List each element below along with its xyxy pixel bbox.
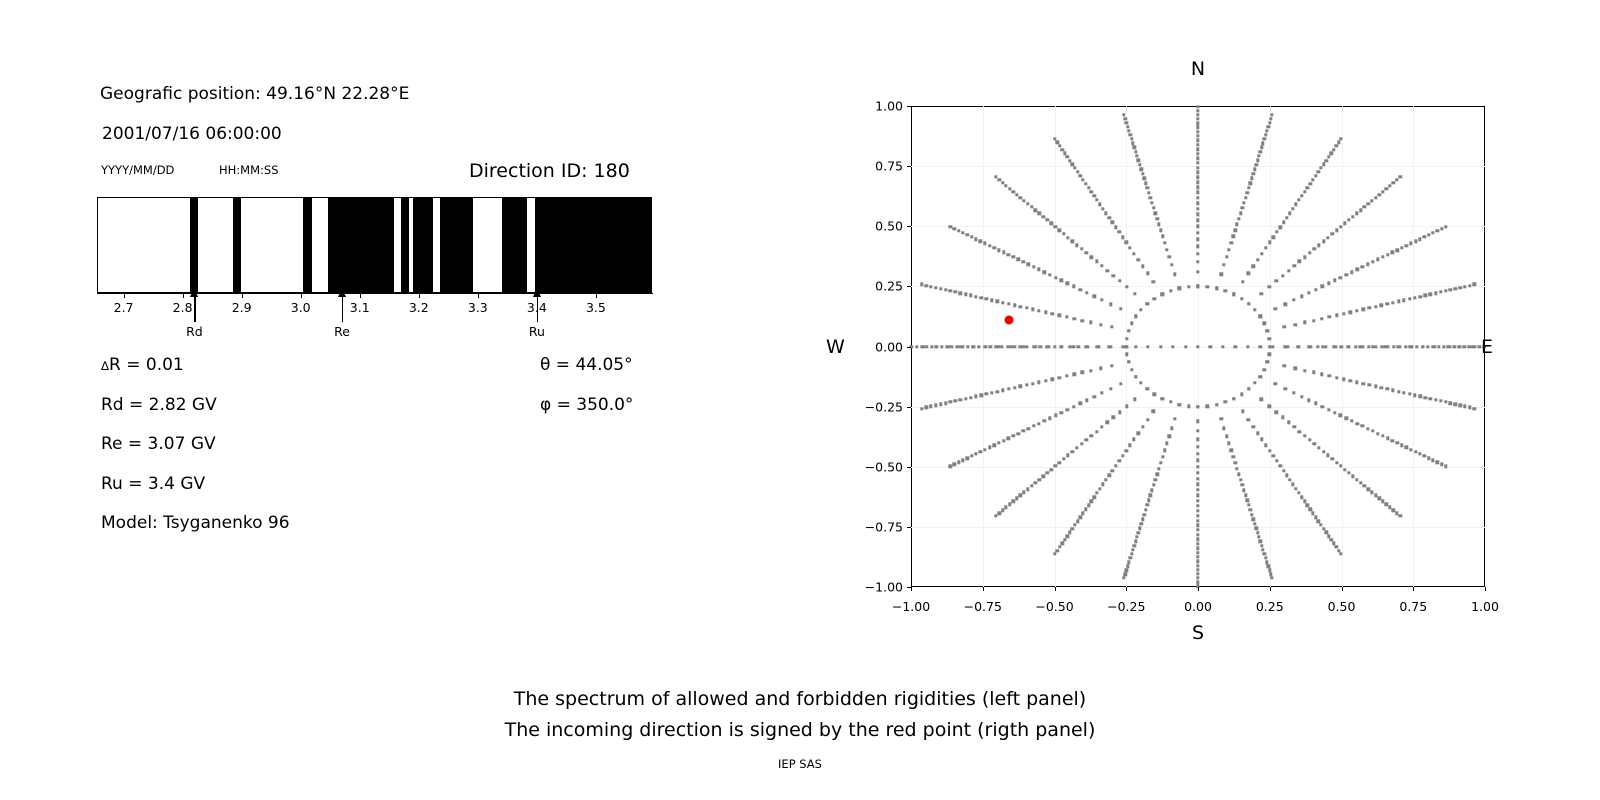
direction-sample-dot bbox=[1139, 381, 1142, 384]
direction-sample-dot bbox=[970, 454, 973, 457]
direction-sample-dot bbox=[961, 459, 964, 462]
direction-sample-dot bbox=[1168, 255, 1171, 258]
direction-sample-dot bbox=[1085, 398, 1088, 401]
direction-sample-dot bbox=[1109, 303, 1112, 306]
direction-sample-dot bbox=[1196, 438, 1199, 441]
direction-sample-dot bbox=[1128, 443, 1131, 446]
direction-sample-dot bbox=[1126, 564, 1129, 567]
direction-sample-dot bbox=[944, 288, 947, 291]
direction-sample-dot bbox=[1339, 137, 1342, 140]
direction-sample-dot bbox=[1327, 408, 1330, 411]
direction-sample-dot bbox=[1054, 414, 1057, 417]
direction-sample-dot bbox=[1125, 285, 1128, 288]
direction-sample-dot bbox=[997, 511, 1000, 514]
direction-sample-dot bbox=[1332, 148, 1335, 151]
direction-sample-dot bbox=[1254, 527, 1257, 530]
direction-sample-dot bbox=[1247, 418, 1250, 421]
direction-sample-dot bbox=[1196, 533, 1199, 536]
direction-sample-dot bbox=[1121, 235, 1124, 238]
direction-sample-dot bbox=[1196, 218, 1199, 221]
direction-sample-dot bbox=[1247, 272, 1250, 275]
direction-sample-dot bbox=[969, 396, 972, 399]
direction-sample-dot bbox=[1045, 471, 1048, 474]
direction-sample-dot bbox=[1089, 369, 1092, 372]
direction-sample-dot bbox=[1245, 191, 1248, 194]
direction-sample-dot bbox=[944, 401, 947, 404]
direction-sample-dot bbox=[1196, 231, 1199, 234]
direction-sample-dot bbox=[1093, 395, 1096, 398]
direction-sample-dot bbox=[1108, 216, 1111, 219]
direction-sample-dot bbox=[1146, 186, 1149, 189]
direction-sample-dot bbox=[1268, 241, 1271, 244]
direction-sample-dot bbox=[1196, 483, 1199, 486]
direction-sample-dot bbox=[1224, 400, 1227, 403]
direction-sample-dot bbox=[1292, 391, 1295, 394]
direction-sample-dot bbox=[1240, 297, 1243, 300]
direction-sample-dot bbox=[1110, 364, 1113, 367]
direction-sample-dot bbox=[1431, 459, 1434, 462]
direction-sample-dot bbox=[1133, 398, 1136, 401]
direction-sample-dot bbox=[1127, 360, 1130, 363]
direction-sample-dot bbox=[1004, 184, 1007, 187]
x-axis-tick-label: 0.00 bbox=[1184, 599, 1212, 614]
direction-sample-dot bbox=[1320, 373, 1323, 376]
direction-sample-dot bbox=[1423, 454, 1426, 457]
direction-sample-dot bbox=[925, 406, 928, 409]
direction-sample-dot bbox=[1424, 396, 1427, 399]
direction-sample-dot bbox=[1140, 168, 1143, 171]
direction-sample-dot bbox=[1118, 279, 1121, 282]
direction-sample-dot bbox=[1130, 137, 1133, 140]
direction-sample-dot bbox=[1196, 191, 1199, 194]
direction-sample-dot bbox=[1001, 301, 1004, 304]
direction-sample-dot bbox=[1141, 517, 1144, 520]
direction-sample-dot bbox=[1146, 418, 1149, 421]
direction-sample-dot bbox=[1134, 375, 1137, 378]
direction-sample-dot bbox=[1125, 353, 1128, 356]
direction-sample-dot bbox=[1284, 387, 1287, 390]
direction-sample-dot bbox=[1124, 117, 1127, 120]
direction-sample-dot bbox=[1100, 264, 1103, 267]
direction-sample-dot bbox=[1260, 438, 1263, 441]
direction-sample-dot bbox=[1038, 478, 1041, 481]
direction-sample-dot bbox=[979, 296, 982, 299]
direction-sample-dot bbox=[1090, 190, 1093, 193]
direction-sample-dot bbox=[1281, 274, 1284, 277]
direction-sample-dot bbox=[1300, 495, 1303, 498]
direction-sample-dot bbox=[1047, 345, 1050, 348]
direction-sample-dot bbox=[1104, 478, 1107, 481]
direction-sample-dot bbox=[1215, 287, 1218, 290]
direction-sample-dot bbox=[930, 345, 933, 348]
direction-sample-dot bbox=[1072, 345, 1075, 348]
direction-sample-dot bbox=[1235, 467, 1238, 470]
direction-sample-dot bbox=[1136, 432, 1139, 435]
direction-sample-dot bbox=[1152, 280, 1155, 283]
y-axis-tick-label: −0.25 bbox=[865, 399, 903, 414]
direction-sample-dot bbox=[1431, 231, 1434, 234]
direction-sample-dot bbox=[1258, 375, 1261, 378]
direction-sample-dot bbox=[1408, 392, 1411, 395]
direction-sample-dot bbox=[1316, 345, 1319, 348]
direction-sample-dot bbox=[1436, 461, 1439, 464]
direction-sample-dot bbox=[1136, 258, 1139, 261]
direction-sample-dot bbox=[1165, 442, 1168, 445]
direction-sample-dot bbox=[1314, 288, 1317, 291]
direction-sample-dot bbox=[1225, 434, 1228, 437]
direction-sample-dot bbox=[1263, 552, 1266, 555]
direction-sample-dot bbox=[1163, 241, 1166, 244]
direction-sample-dot bbox=[1224, 289, 1227, 292]
direction-sample-dot bbox=[1022, 491, 1025, 494]
x-axis-tick-label: 0.50 bbox=[1328, 599, 1356, 614]
direction-sample-dot bbox=[1079, 174, 1082, 177]
direction-sample-dot bbox=[1267, 353, 1270, 356]
direction-sample-dot bbox=[1141, 172, 1144, 175]
direction-sample-dot bbox=[1294, 367, 1297, 370]
direction-sample-dot bbox=[1349, 379, 1352, 382]
direction-sample-dot bbox=[1374, 196, 1377, 199]
direction-sample-dot bbox=[1011, 190, 1014, 193]
direction-sample-dot bbox=[1196, 122, 1199, 125]
direction-sample-dot bbox=[1196, 143, 1199, 146]
direction-sample-dot bbox=[1144, 508, 1147, 511]
direction-sample-dot bbox=[1048, 273, 1051, 276]
direction-sample-dot bbox=[1275, 230, 1278, 233]
direction-sample-dot bbox=[1386, 253, 1389, 256]
direction-sample-dot bbox=[1196, 176, 1199, 179]
direction-sample-dot bbox=[997, 178, 1000, 181]
direction-sample-dot bbox=[983, 448, 986, 451]
direction-sample-dot bbox=[1244, 494, 1247, 497]
direction-sample-dot bbox=[1099, 367, 1102, 370]
direction-sample-dot bbox=[1117, 230, 1120, 233]
direction-sample-dot bbox=[1252, 517, 1255, 520]
direction-sample-dot bbox=[972, 345, 975, 348]
direction-sample-dot bbox=[1013, 345, 1016, 348]
direction-sample-dot bbox=[1196, 196, 1199, 199]
x-axis-tick bbox=[911, 587, 912, 591]
direction-sample-dot bbox=[1380, 386, 1383, 389]
direction-sample-dot bbox=[1196, 546, 1199, 549]
direction-sample-dot bbox=[1118, 410, 1121, 413]
direction-sample-dot bbox=[940, 345, 943, 348]
direction-sample-dot bbox=[1346, 345, 1349, 348]
direction-sample-dot bbox=[1458, 345, 1461, 348]
direction-sample-dot bbox=[1153, 392, 1156, 395]
direction-sample-dot bbox=[1303, 434, 1306, 437]
direction-sample-dot bbox=[1066, 408, 1069, 411]
direction-sample-dot bbox=[1002, 251, 1005, 254]
direction-sample-dot bbox=[1335, 229, 1338, 232]
direction-sample-dot bbox=[1131, 548, 1134, 551]
direction-sample-dot bbox=[1414, 450, 1417, 453]
direction-sample-dot bbox=[1039, 345, 1042, 348]
direction-sample-dot bbox=[1160, 397, 1163, 400]
direction-sample-dot bbox=[1041, 475, 1044, 478]
direction-sample-dot bbox=[1463, 345, 1466, 348]
direction-sample-dot bbox=[1196, 551, 1199, 554]
direction-sample-dot bbox=[1237, 472, 1240, 475]
direction-sample-dot bbox=[1015, 193, 1018, 196]
direction-sample-dot bbox=[1173, 417, 1176, 420]
direction-sample-dot bbox=[1266, 329, 1269, 332]
y-axis-tick bbox=[907, 347, 911, 348]
compass-west-label: W bbox=[826, 336, 845, 358]
direction-sample-dot bbox=[1087, 186, 1090, 189]
direction-sample-dot bbox=[1027, 427, 1030, 430]
direction-sample-dot bbox=[1058, 461, 1061, 464]
direction-sample-dot bbox=[1196, 568, 1199, 571]
incoming-direction-point bbox=[1004, 316, 1013, 325]
direction-sample-dot bbox=[1143, 513, 1146, 516]
direction-sample-dot bbox=[1237, 217, 1240, 220]
direction-sample-dot bbox=[1099, 323, 1102, 326]
direction-sample-dot bbox=[1056, 141, 1059, 144]
direction-sample-dot bbox=[1458, 286, 1461, 289]
direction-sample-dot bbox=[1317, 243, 1320, 246]
direction-sample-dot bbox=[949, 225, 952, 228]
direction-sample-dot bbox=[1196, 157, 1199, 160]
direction-sample-dot bbox=[1196, 494, 1199, 497]
direction-sample-dot bbox=[1317, 446, 1320, 449]
direction-sample-dot bbox=[1418, 452, 1421, 455]
direction-sample-dot bbox=[1351, 475, 1354, 478]
direction-sample-dot bbox=[1125, 449, 1128, 452]
direction-sample-dot bbox=[1260, 292, 1263, 295]
direction-sample-dot bbox=[1009, 345, 1012, 348]
x-axis-tick bbox=[1126, 587, 1127, 591]
direction-sample-dot bbox=[1196, 499, 1199, 502]
direction-sample-dot bbox=[1253, 308, 1256, 311]
direction-sample-dot bbox=[997, 345, 1000, 348]
direction-sample-dot bbox=[1196, 126, 1199, 129]
direction-sample-dot bbox=[1231, 455, 1234, 458]
direction-sample-dot bbox=[1108, 474, 1111, 477]
direction-sample-dot bbox=[1196, 555, 1199, 558]
direction-sample-dot bbox=[1196, 542, 1199, 545]
direction-sample-dot bbox=[1045, 218, 1048, 221]
direction-sample-dot bbox=[1048, 416, 1051, 419]
x-axis-tick bbox=[1270, 587, 1271, 591]
direction-sample-dot bbox=[1381, 190, 1384, 193]
direction-sample-dot bbox=[1371, 260, 1374, 263]
direction-sample-dot bbox=[947, 345, 950, 348]
direction-sample-dot bbox=[1291, 207, 1294, 210]
direction-sample-dot bbox=[1268, 285, 1271, 288]
y-axis-tick-label: −0.50 bbox=[865, 459, 903, 474]
direction-sample-dot bbox=[1433, 345, 1436, 348]
direction-sample-dot bbox=[959, 398, 962, 401]
direction-sample-dot bbox=[1196, 538, 1199, 541]
direction-sample-dot bbox=[1347, 471, 1350, 474]
direction-sample-dot bbox=[1263, 368, 1266, 371]
direction-sample-dot bbox=[1429, 397, 1432, 400]
direction-sample-dot bbox=[1413, 393, 1416, 396]
direction-sample-dot bbox=[1168, 434, 1171, 437]
direction-sample-dot bbox=[1225, 255, 1228, 258]
direction-sample-dot bbox=[1326, 236, 1329, 239]
direction-sample-dot bbox=[1161, 455, 1164, 458]
direction-sample-dot bbox=[1196, 152, 1199, 155]
direction-sample-dot bbox=[1300, 194, 1303, 197]
direction-sample-dot bbox=[1265, 129, 1268, 132]
direction-sample-dot bbox=[1066, 155, 1069, 158]
direction-sample-dot bbox=[1019, 196, 1022, 199]
direction-sample-dot bbox=[1152, 483, 1155, 486]
direction-sample-dot bbox=[1418, 395, 1421, 398]
direction-sample-dot bbox=[1307, 291, 1310, 294]
direction-sample-dot bbox=[1227, 442, 1230, 445]
direction-sample-dot bbox=[1294, 323, 1297, 326]
direction-sample-dot bbox=[1321, 345, 1324, 348]
direction-sample-dot bbox=[1263, 137, 1266, 140]
direction-sample-dot bbox=[925, 284, 928, 287]
direction-sample-dot bbox=[1418, 295, 1421, 298]
direction-sample-dot bbox=[1272, 454, 1275, 457]
direction-sample-dot bbox=[1034, 481, 1037, 484]
direction-sample-dot bbox=[1135, 154, 1138, 157]
direction-sample-dot bbox=[1340, 345, 1343, 348]
direction-sample-dot bbox=[1152, 206, 1155, 209]
direction-sample-dot bbox=[1288, 211, 1291, 214]
direction-sample-dot bbox=[1098, 203, 1101, 206]
direction-sample-dot bbox=[1025, 306, 1028, 309]
direction-sample-dot bbox=[1334, 144, 1337, 147]
direction-sample-dot bbox=[1150, 488, 1153, 491]
direction-sample-dot bbox=[1129, 556, 1132, 559]
direction-sample-dot bbox=[1300, 395, 1303, 398]
direction-sample-dot bbox=[1066, 282, 1069, 285]
direction-sample-dot bbox=[1269, 572, 1272, 575]
direction-sample-dot bbox=[1043, 419, 1046, 422]
direction-sample-dot bbox=[1101, 483, 1104, 486]
direction-sample-dot bbox=[1062, 232, 1065, 235]
direction-sample-dot bbox=[1355, 212, 1358, 215]
direction-sample-dot bbox=[1196, 207, 1199, 210]
direction-sample-dot bbox=[957, 229, 960, 232]
direction-sample-dot bbox=[1264, 443, 1267, 446]
y-axis-tick bbox=[907, 106, 911, 107]
direction-sample-dot bbox=[1054, 276, 1057, 279]
direction-sample-dot bbox=[1267, 125, 1270, 128]
direction-sample-dot bbox=[964, 397, 967, 400]
direction-sample-dot bbox=[1260, 544, 1263, 547]
direction-sample-dot bbox=[1371, 429, 1374, 432]
direction-sample-dot bbox=[1317, 170, 1320, 173]
direction-sample-dot bbox=[1427, 456, 1430, 459]
compass-east-label: E bbox=[1481, 336, 1493, 358]
direction-sample-dot bbox=[1242, 201, 1245, 204]
direction-sample-dot bbox=[1444, 465, 1447, 468]
direction-sample-dot bbox=[1257, 535, 1260, 538]
direction-sample-dot bbox=[1087, 504, 1090, 507]
direction-sample-dot bbox=[994, 514, 997, 517]
direction-sample-dot bbox=[1049, 222, 1052, 225]
direction-sample-dot bbox=[1098, 487, 1101, 490]
direction-sample-dot bbox=[1385, 187, 1388, 190]
x-axis-tick-label: −0.75 bbox=[964, 599, 1002, 614]
direction-sample-dot bbox=[1196, 405, 1199, 408]
direction-sample-dot bbox=[1335, 376, 1338, 379]
direction-sample-dot bbox=[1233, 461, 1236, 464]
direction-sample-dot bbox=[1146, 345, 1149, 348]
direction-sample-dot bbox=[1130, 368, 1133, 371]
direction-sample-dot bbox=[1256, 258, 1259, 261]
direction-sample-dot bbox=[1157, 223, 1160, 226]
direction-sample-dot bbox=[1141, 264, 1144, 267]
direction-sample-dot bbox=[1297, 198, 1300, 201]
direction-sample-dot bbox=[1242, 488, 1245, 491]
direction-sample-dot bbox=[1374, 385, 1377, 388]
direction-sample-dot bbox=[1125, 405, 1128, 408]
direction-sample-dot bbox=[1266, 360, 1269, 363]
direction-sample-dot bbox=[1471, 345, 1474, 348]
direction-sample-dot bbox=[1449, 288, 1452, 291]
direction-sample-dot bbox=[1215, 403, 1218, 406]
direction-sample-dot bbox=[1134, 315, 1137, 318]
direction-sample-dot bbox=[1149, 196, 1152, 199]
direction-sample-dot bbox=[1402, 299, 1405, 302]
direction-sample-dot bbox=[1454, 287, 1457, 290]
direction-sample-dot bbox=[1025, 345, 1028, 348]
direction-sample-dot bbox=[1324, 159, 1327, 162]
direction-sample-dot bbox=[1109, 345, 1112, 348]
direction-sample-dot bbox=[1196, 519, 1199, 522]
direction-sample-dot bbox=[1440, 227, 1443, 230]
direction-sample-dot bbox=[1117, 459, 1120, 462]
direction-sample-dot bbox=[969, 294, 972, 297]
direction-sample-dot bbox=[1259, 345, 1262, 348]
direction-sample-dot bbox=[1196, 580, 1199, 583]
angle-row: φ = 350.0° bbox=[540, 395, 633, 415]
direction-sample-dot bbox=[1081, 178, 1084, 181]
footer-label: IEP SAS bbox=[0, 757, 1600, 771]
direction-sample-dot bbox=[1095, 198, 1098, 201]
direction-sample-dot bbox=[1157, 467, 1160, 470]
direction-sample-dot bbox=[1111, 469, 1114, 472]
direction-sample-dot bbox=[1383, 345, 1386, 348]
direction-sample-dot bbox=[1122, 576, 1125, 579]
direction-sample-dot bbox=[1361, 424, 1364, 427]
direction-sample-dot bbox=[939, 287, 942, 290]
direction-sample-dot bbox=[1260, 252, 1263, 255]
direction-sample-dot bbox=[1303, 190, 1306, 193]
direction-sample-dot bbox=[1405, 446, 1408, 449]
direction-sample-dot bbox=[1292, 264, 1295, 267]
direction-sample-dot bbox=[1022, 345, 1025, 348]
direction-sample-dot bbox=[1065, 315, 1068, 318]
direction-sample-dot bbox=[953, 227, 956, 230]
direction-sample-dot bbox=[1234, 345, 1237, 348]
compass-south-label: S bbox=[1192, 622, 1204, 644]
direction-sample-dot bbox=[1196, 186, 1199, 189]
direction-sample-dot bbox=[1250, 513, 1253, 516]
direction-sample-dot bbox=[1314, 174, 1317, 177]
direction-sample-dot bbox=[1307, 398, 1310, 401]
direction-sample-dot bbox=[979, 450, 982, 453]
direction-sample-dot bbox=[1025, 383, 1028, 386]
direction-sample-dot bbox=[1196, 452, 1199, 455]
direction-sample-dot bbox=[1320, 317, 1323, 320]
direction-sample-dot bbox=[1239, 478, 1242, 481]
direction-sample-dot bbox=[1124, 572, 1127, 575]
direction-sample-dot bbox=[953, 463, 956, 466]
direction-sample-dot bbox=[1146, 302, 1149, 305]
direction-sample-dot bbox=[1170, 263, 1173, 266]
direction-sample-dot bbox=[920, 407, 923, 410]
direction-sample-dot bbox=[1072, 285, 1075, 288]
